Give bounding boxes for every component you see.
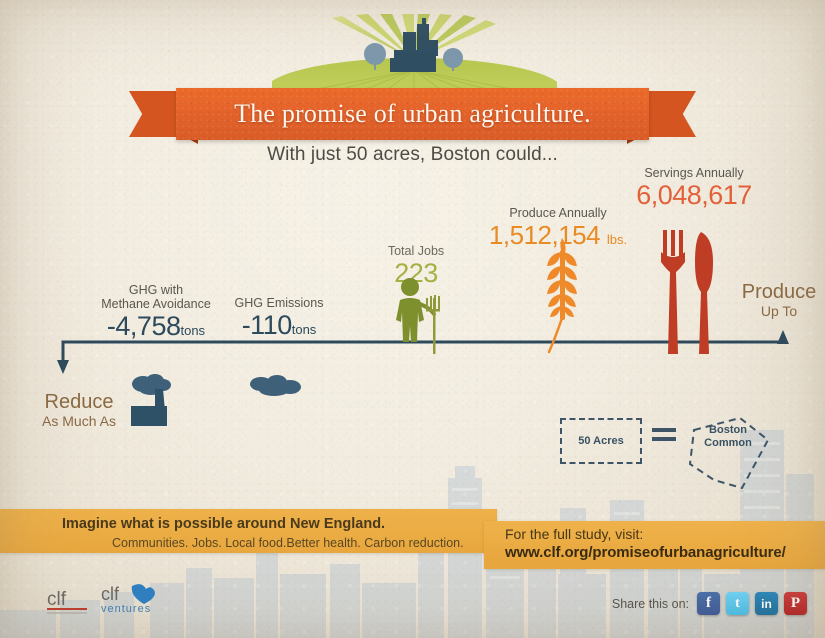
stat-caption-line1: GHG Emissions: [218, 296, 340, 310]
stat-value: -4,758tons: [86, 311, 226, 342]
clf-ventures-logo[interactable]: clf ventures: [100, 582, 162, 616]
farm-city-illustration: [272, 14, 557, 92]
boston-common-label-line1: Boston: [690, 424, 766, 437]
stat-number: -4,758: [107, 311, 181, 341]
title-ribbon: The promise of urban agriculture.: [129, 88, 696, 140]
acres-label: 50 Acres: [578, 435, 623, 447]
boston-common-label: Boston Common: [690, 424, 766, 450]
share-label: Share this on:: [612, 597, 689, 611]
axis-label-produce: Produce Up To: [733, 281, 825, 320]
stat-caption-line1: Servings Annually: [620, 166, 768, 180]
stat-unit: lbs.: [607, 232, 627, 247]
stat-caption-line1: GHG with: [86, 283, 226, 297]
tagline-headline: Imagine what is possible around New Engl…: [62, 516, 385, 532]
svg-text:ventures: ventures: [101, 603, 151, 615]
axis-label-reduce-sub: As Much As: [24, 413, 134, 430]
stat-caption-line2: Methane Avoidance: [86, 297, 226, 311]
clf-logo[interactable]: clf: [45, 586, 101, 616]
axis-label-produce-sub: Up To: [733, 303, 825, 320]
area-comparison: 50 Acres Boston Common: [560, 418, 775, 488]
study-link-prompt: For the full study, visit:: [505, 526, 643, 542]
svg-text:clf: clf: [47, 589, 67, 610]
stat-value: 6,048,617: [620, 180, 768, 211]
boston-common-label-line2: Common: [690, 437, 766, 450]
stat-servings-annually: Servings Annually 6,048,617: [620, 166, 768, 211]
linkedin-icon[interactable]: in: [755, 592, 778, 615]
page-title: The promise of urban agriculture.: [234, 99, 591, 129]
smoke-cloud-icon: [247, 374, 305, 400]
farmer-icon: [390, 276, 445, 354]
subtitle: With just 50 acres, Boston could...: [0, 144, 825, 166]
stat-unit: tons: [180, 323, 205, 338]
stat-value: -110tons: [218, 310, 340, 341]
equals-sign: [652, 428, 676, 446]
share-bar: Share this on: f t in P: [612, 592, 807, 615]
twitter-icon[interactable]: t: [726, 592, 749, 615]
study-link-banner[interactable]: For the full study, visit: www.clf.org/p…: [484, 521, 825, 569]
axis-label-reduce-main: Reduce: [24, 391, 134, 413]
study-link-url[interactable]: www.clf.org/promiseofurbanagriculture/: [505, 544, 786, 561]
fork-knife-icon: [659, 228, 721, 354]
wheat-icon: [537, 236, 587, 354]
stat-number: -110: [242, 310, 292, 340]
stat-ghg-emissions: GHG Emissions -110tons: [218, 296, 340, 341]
axis-label-reduce: Reduce As Much As: [24, 391, 134, 430]
infographic-canvas: The promise of urban agriculture. With j…: [0, 0, 825, 638]
stat-caption-line1: Produce Annually: [482, 206, 634, 220]
axis-label-produce-main: Produce: [733, 281, 825, 303]
facebook-icon[interactable]: f: [697, 592, 720, 615]
acres-box: 50 Acres: [560, 418, 642, 464]
svg-text:clf: clf: [101, 584, 120, 604]
factory-smoke-icon: [125, 372, 193, 430]
pinterest-icon[interactable]: P: [784, 592, 807, 615]
tagline-banner: Imagine what is possible around New Engl…: [0, 509, 497, 553]
stat-unit: tons: [292, 322, 317, 337]
stat-caption-line1: Total Jobs: [368, 244, 464, 258]
tagline-subline: Communities. Jobs. Local food.Better hea…: [112, 536, 464, 550]
ribbon-body: The promise of urban agriculture.: [176, 88, 649, 140]
stat-ghg-methane: GHG with Methane Avoidance -4,758tons: [86, 283, 226, 342]
